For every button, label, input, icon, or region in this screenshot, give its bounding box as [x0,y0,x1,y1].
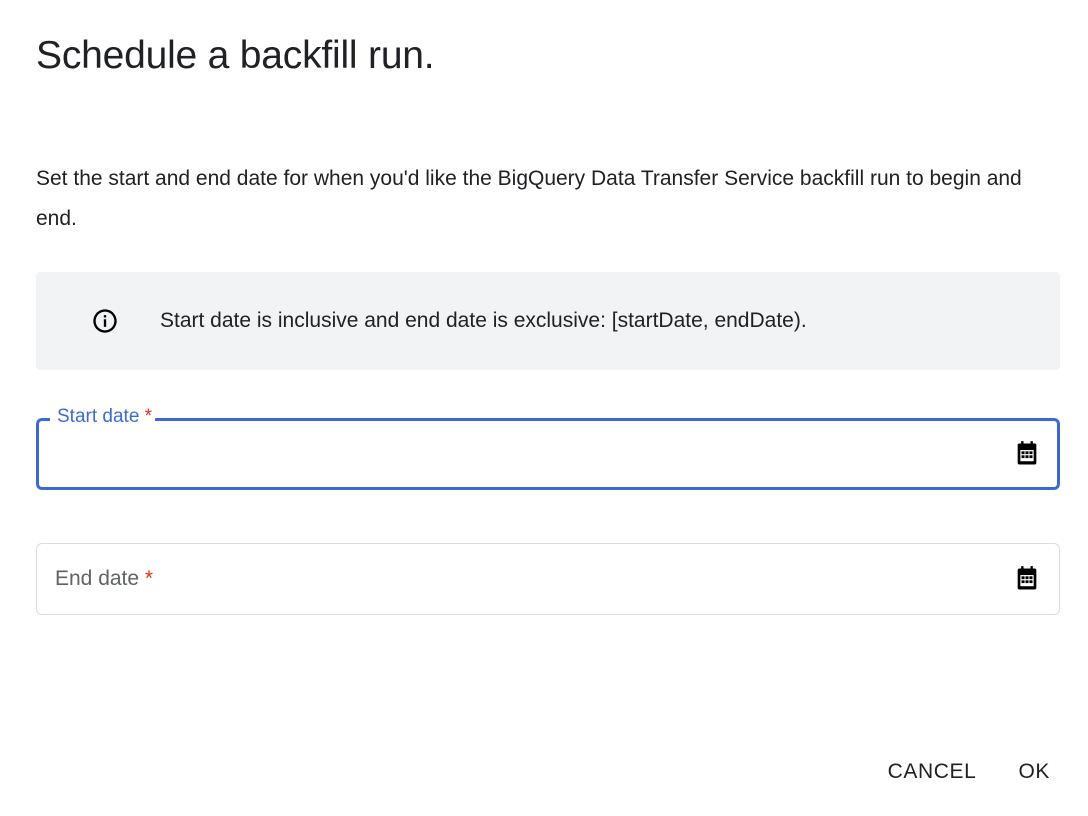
info-outline-icon [91,307,119,335]
start-date-label-text: Start date [57,406,139,427]
end-date-field[interactable]: End date * [36,543,1060,615]
page-title: Schedule a backfill run. [36,32,434,80]
start-date-calendar-icon[interactable] [1012,439,1042,469]
start-date-input[interactable] [39,421,1057,487]
cancel-button[interactable]: CANCEL [874,750,991,794]
start-date-field[interactable]: Start date * Start date * [36,418,1060,490]
ok-button[interactable]: OK [1004,750,1064,794]
start-date-label: Start date * [55,405,154,429]
dialog-description: Set the start and end date for when you'… [36,159,1052,239]
dialog-actions: CANCEL OK [874,750,1064,794]
info-banner: Start date is inclusive and end date is … [36,272,1060,370]
end-date-input[interactable] [39,546,1057,612]
start-date-required-marker: * [145,406,152,427]
end-date-calendar-icon[interactable] [1012,564,1042,594]
schedule-backfill-dialog: Schedule a backfill run. Set the start a… [0,0,1088,816]
info-banner-text: Start date is inclusive and end date is … [160,307,807,335]
